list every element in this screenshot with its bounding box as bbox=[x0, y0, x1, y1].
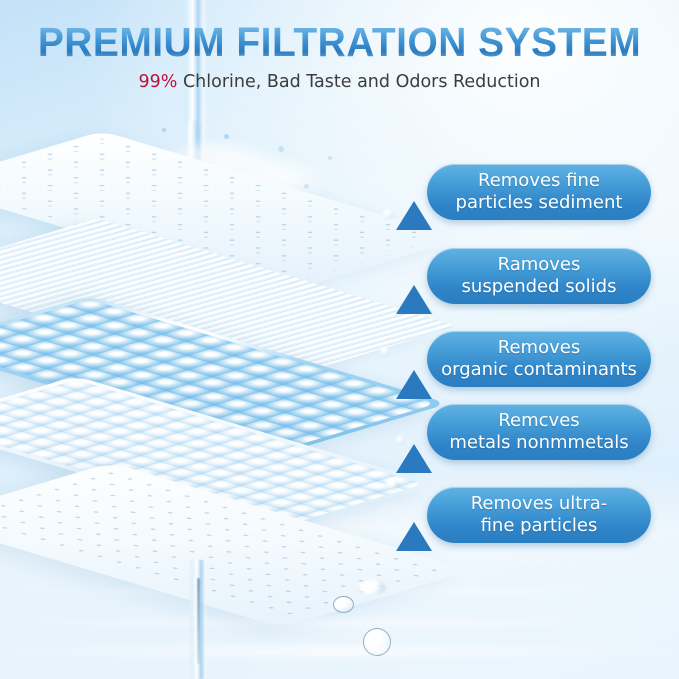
subtitle-text: Chlorine, Bad Taste and Odors Reduction bbox=[177, 72, 540, 92]
water-ripple-band bbox=[0, 618, 679, 627]
callout-line-1: Remcves bbox=[498, 410, 579, 431]
page-title: PREMIUM FILTRATION SYSTEM bbox=[17, 22, 662, 63]
callout-line-1: Ramoves bbox=[498, 254, 581, 275]
poster-canvas: PREMIUM FILTRATION SYSTEM 99% Chlorine, … bbox=[0, 0, 679, 679]
callout-line-1: Removes fine bbox=[478, 170, 600, 191]
callout-line-2: particles sediment bbox=[456, 192, 623, 213]
pointer-triangle-icon bbox=[396, 522, 432, 551]
reduction-percent: 99% bbox=[138, 72, 177, 92]
callout-organic-contaminants[interactable]: Removesorganic contaminants bbox=[427, 331, 651, 387]
callout-line-2: suspended solids bbox=[462, 276, 617, 297]
water-stream-bottom-icon bbox=[188, 560, 208, 679]
bubble-icon bbox=[333, 596, 354, 613]
bubble-icon bbox=[383, 209, 393, 219]
bubble-icon bbox=[386, 478, 398, 490]
callout-line-2: fine particles bbox=[481, 515, 598, 536]
filter-layer-stack bbox=[0, 150, 412, 590]
pointer-triangle-icon bbox=[396, 201, 432, 230]
callout-ultra-fine-particles[interactable]: Removes ultra-fine particles bbox=[427, 487, 651, 543]
callout-line-1: Removes ultra- bbox=[471, 493, 608, 514]
page-subtitle: 99% Chlorine, Bad Taste and Odors Reduct… bbox=[0, 72, 679, 92]
callout-suspended-solids[interactable]: Ramovessuspended solids bbox=[427, 248, 651, 304]
callout-line-2: organic contaminants bbox=[441, 359, 637, 380]
pointer-triangle-icon bbox=[396, 285, 432, 314]
pointer-triangle-icon bbox=[396, 370, 432, 399]
callout-line-1: Removes bbox=[498, 337, 580, 358]
water-ripple-band bbox=[0, 645, 679, 657]
pointer-triangle-icon bbox=[396, 444, 432, 473]
bubble-icon bbox=[358, 580, 386, 595]
callout-line-2: metals nonmmetals bbox=[449, 432, 628, 453]
bubble-icon bbox=[363, 628, 391, 656]
callout-metals-nonmetals[interactable]: Remcvesmetals nonmmetals bbox=[427, 404, 651, 460]
callout-fine-particles-sediment[interactable]: Removes fineparticles sediment bbox=[427, 164, 651, 220]
bubble-icon bbox=[396, 436, 404, 444]
bubble-icon bbox=[380, 347, 389, 356]
